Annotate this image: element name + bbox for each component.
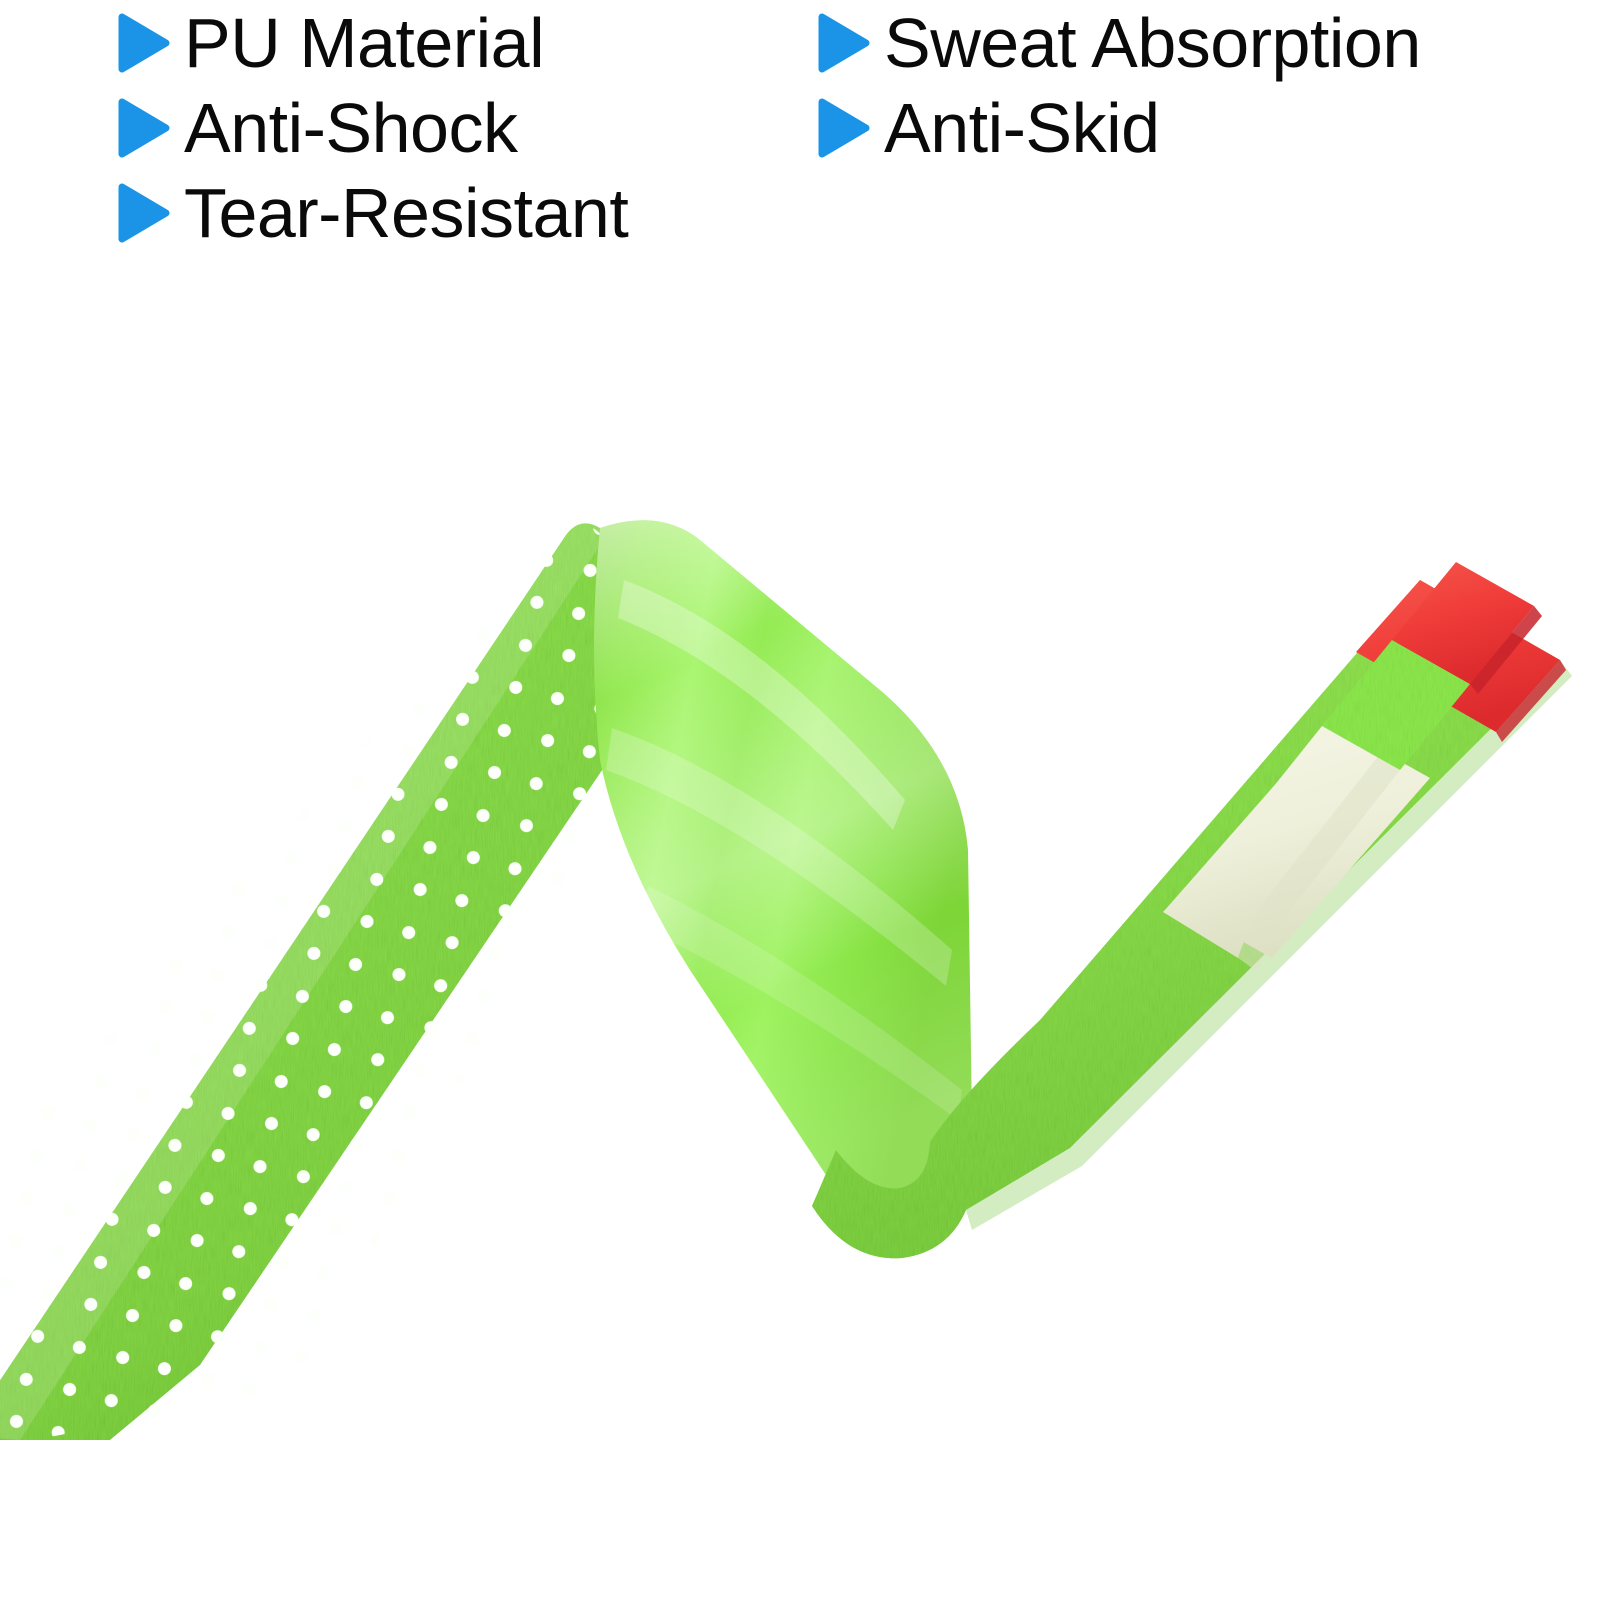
feature-label: Sweat Absorption xyxy=(884,8,1421,78)
overgrip-tape-illustration xyxy=(0,330,1600,1600)
glossy-back-face xyxy=(594,520,972,1258)
product-photo xyxy=(0,330,1600,1600)
play-triangle-icon xyxy=(118,183,170,243)
feature-label: PU Material xyxy=(184,8,544,78)
feature-label: Anti-Shock xyxy=(184,93,517,163)
feature-column-left: PU Material Anti-Shock Tear-Resistant xyxy=(118,0,628,255)
product-feature-image: PU Material Anti-Shock Tear-Resistant xyxy=(0,0,1600,1600)
feature-item-pu-material: PU Material xyxy=(118,0,628,85)
feature-item-sweat-absorption: Sweat Absorption xyxy=(818,0,1421,85)
play-triangle-icon xyxy=(818,98,870,158)
feature-list: PU Material Anti-Shock Tear-Resistant xyxy=(0,0,1600,330)
play-triangle-icon xyxy=(118,98,170,158)
feature-item-tear-resistant: Tear-Resistant xyxy=(118,170,628,255)
feature-label: Anti-Skid xyxy=(884,93,1160,163)
feature-item-anti-skid: Anti-Skid xyxy=(818,85,1421,170)
feature-label: Tear-Resistant xyxy=(184,178,628,248)
feature-item-anti-shock: Anti-Shock xyxy=(118,85,628,170)
play-triangle-icon xyxy=(818,13,870,73)
play-triangle-icon xyxy=(118,13,170,73)
feature-column-right: Sweat Absorption Anti-Skid xyxy=(818,0,1421,170)
